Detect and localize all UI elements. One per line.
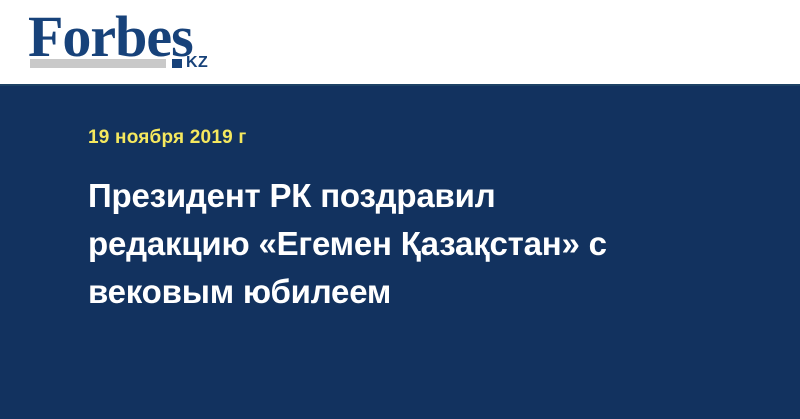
article-body: 19 ноября 2019 г Президент РК поздравил … <box>0 88 800 419</box>
logo-square-icon <box>172 59 182 68</box>
article-card: Forbes KZ 19 ноября 2019 г Президент РК … <box>0 0 800 419</box>
forbes-kz-logo[interactable]: Forbes KZ <box>28 8 238 78</box>
article-date: 19 ноября 2019 г <box>88 127 246 149</box>
logo-wordmark: Forbes <box>28 8 193 66</box>
logo-kz-suffix: KZ <box>186 55 208 71</box>
article-title-line: Президент РК поздравил <box>88 172 708 220</box>
site-header: Forbes KZ <box>0 0 800 86</box>
article-title-line: вековым юбилеем <box>88 268 708 316</box>
article-title: Президент РК поздравил редакцию «Егемен … <box>88 172 708 316</box>
logo-rule-bar <box>30 59 166 68</box>
article-title-line: редакцию «Егемен Қазақстан» с <box>88 220 708 268</box>
